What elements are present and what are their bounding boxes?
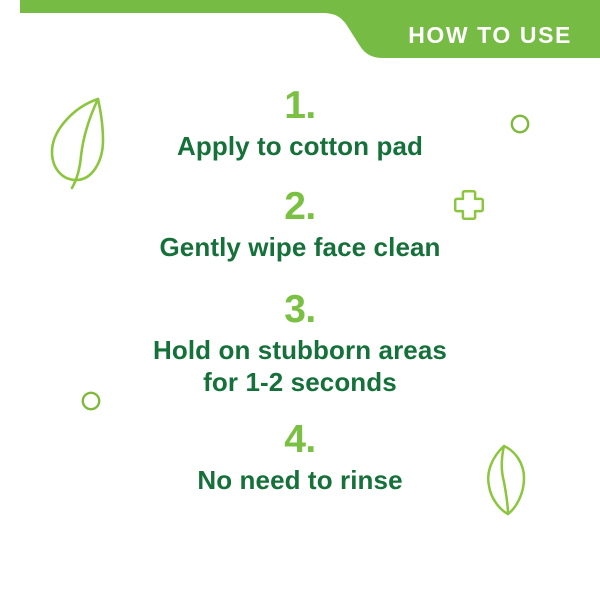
step-text: Hold on stubborn areas for 1-2 seconds [0,334,600,398]
step-text: Gently wipe face clean [0,231,600,263]
steps-list: 1. Apply to cotton pad 2. Gently wipe fa… [0,72,600,504]
step-number: 3. [0,287,600,333]
step-item-2: 2. Gently wipe face clean [0,184,600,263]
step-text: No need to rinse [0,464,600,496]
step-text-line: No need to rinse [0,464,600,496]
step-item-4: 4. No need to rinse [0,417,600,496]
step-text-line: for 1-2 seconds [0,366,600,398]
step-text: Apply to cotton pad [0,130,600,162]
page-title: HOW TO USE [408,20,572,50]
step-text-line: Hold on stubborn areas [0,334,600,366]
how-to-use-infographic: HOW TO USE 1. App [0,0,600,600]
step-number: 2. [0,184,600,230]
step-number: 1. [0,83,600,129]
step-text-line: Apply to cotton pad [0,130,600,162]
step-text-line: Gently wipe face clean [0,231,600,263]
step-item-1: 1. Apply to cotton pad [0,83,600,162]
step-item-3: 3. Hold on stubborn areas for 1-2 second… [0,287,600,398]
step-number: 4. [0,417,600,463]
